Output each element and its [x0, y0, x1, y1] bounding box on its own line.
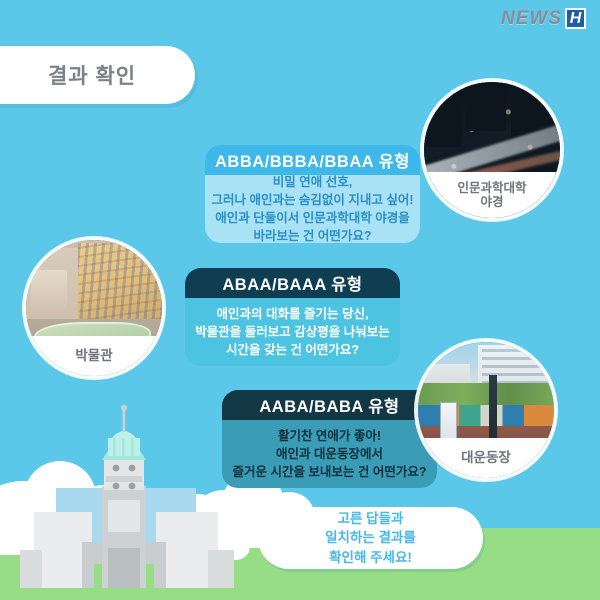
result-description-3: 활기찬 연애가 좋아! 애인과 대운동장에서 즐거운 시간을 보내보는 건 어떤…	[222, 420, 437, 488]
result-type-label-2: ABAA/BAAA 유형	[185, 268, 400, 298]
photo-caption-2: 박물관	[26, 336, 162, 376]
desc-line: 시간을 갖는 건 어떤가요?	[226, 341, 359, 359]
bottom-message-line: 고른 답들과	[338, 509, 404, 528]
desc-line: 비밀 연애 선호,	[273, 173, 352, 191]
desc-line: 즐거운 시간을 보내보는 건 어떤가요?	[232, 463, 426, 481]
brand-logo: NEWS H	[501, 8, 586, 29]
page-title: 결과 확인	[48, 60, 136, 90]
caption-line: 인문과학대학	[457, 181, 526, 195]
result-type-label-1: ABBA/BBBA/BBAA 유형	[205, 145, 420, 175]
desc-line: 애인과 대운동장에서	[276, 445, 383, 463]
photo-caption-1: 인문과학대학 야경	[424, 172, 560, 218]
caption-line: 대운동장	[461, 450, 511, 465]
desc-line: 그러나 애인과는 숨김없이 지내고 싶어!	[211, 191, 413, 209]
result-description-1: 비밀 연애 선호, 그러나 애인과는 숨김없이 지내고 싶어! 애인과 단둘이서…	[205, 175, 420, 243]
bottom-message-line: 일치하는 결과를	[325, 528, 416, 547]
bottom-message-line: 확인해 주세요!	[329, 548, 412, 567]
caption-line: 박물관	[75, 348, 112, 363]
result-block-1: ABBA/BBBA/BBAA 유형 비밀 연애 선호, 그러나 애인과는 숨김없…	[205, 145, 420, 243]
result-type-label-3: AABA/BABA 유형	[222, 390, 437, 420]
result-block-2: ABAA/BAAA 유형 애인과의 대화를 즐기는 당신, 박물관을 둘러보고 …	[185, 268, 400, 366]
desc-line: 애인과의 대화를 즐기는 당신,	[217, 305, 369, 323]
page-title-pill: 결과 확인	[0, 46, 195, 104]
photo-humanities-night-view: 인문과학대학 야경	[424, 82, 560, 218]
infographic-canvas: NEWS H 결과 확인 ABBA/BBBA/BBAA 유형 비밀 연애 선호,…	[0, 0, 600, 600]
desc-line: 바라보는 건 어떤가요?	[253, 227, 371, 245]
brand-badge-h: H	[565, 8, 586, 29]
photo-main-stadium: 대운동장	[418, 342, 554, 478]
result-block-3: AABA/BABA 유형 활기찬 연애가 좋아! 애인과 대운동장에서 즐거운 …	[222, 390, 437, 488]
photo-caption-3: 대운동장	[418, 438, 554, 478]
desc-line: 활기찬 연애가 좋아!	[278, 427, 381, 445]
campus-building-illustration	[0, 400, 252, 600]
brand-name: NEWS	[501, 9, 562, 28]
bottom-message: 고른 답들과 일치하는 결과를 확인해 주세요!	[258, 507, 483, 569]
desc-line: 박물관을 둘러보고 감상평을 나눠보는	[195, 323, 389, 341]
result-description-2: 애인과의 대화를 즐기는 당신, 박물관을 둘러보고 감상평을 나눠보는 시간을…	[185, 298, 400, 366]
desc-line: 애인과 단둘이서 인문과학대학 야경을	[215, 209, 409, 227]
photo-museum: 박물관	[26, 240, 162, 376]
caption-line: 야경	[480, 195, 503, 209]
